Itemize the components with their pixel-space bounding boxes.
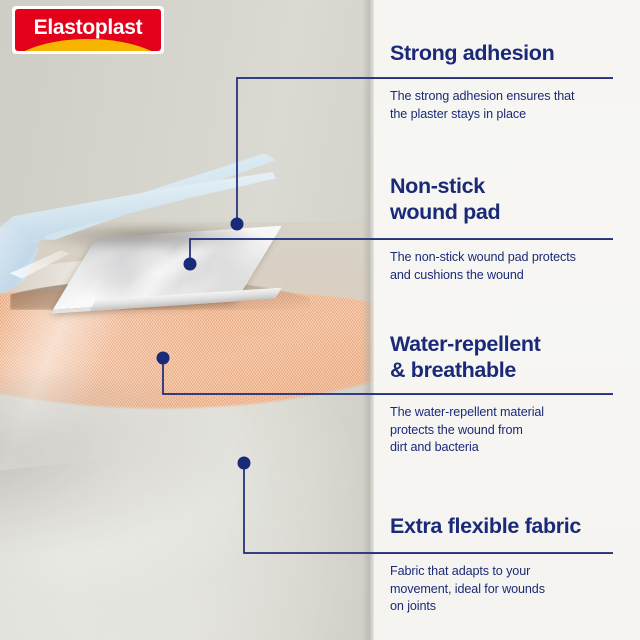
feature-body-strong-adhesion: The strong adhesion ensures that the pla… bbox=[390, 88, 622, 123]
feature-title-extra-flexible-fabric: Extra flexible fabric bbox=[390, 513, 622, 539]
feature-divider-3 bbox=[370, 394, 613, 395]
logo-wordmark: Elastoplast bbox=[15, 16, 161, 40]
feature-heading: Non-stick wound pad bbox=[390, 173, 622, 225]
feature-title-strong-adhesion: Strong adhesion bbox=[390, 40, 622, 66]
feature-divider-2 bbox=[370, 239, 613, 240]
logo-red-field: Elastoplast bbox=[15, 9, 161, 51]
fabric-shadow bbox=[0, 378, 260, 568]
logo-yellow-swoosh bbox=[15, 39, 161, 51]
feature-body-water-repellent-breathable: The water-repellent material protects th… bbox=[390, 404, 622, 457]
product-illustration bbox=[0, 0, 400, 640]
feature-description: Fabric that adapts to your movement, ide… bbox=[390, 563, 622, 616]
backing-film-body bbox=[0, 172, 276, 254]
feature-divider-1 bbox=[370, 78, 613, 79]
feature-heading: Water-repellent & breathable bbox=[390, 331, 622, 383]
feature-heading: Extra flexible fabric bbox=[390, 513, 622, 539]
feature-description: The strong adhesion ensures that the pla… bbox=[390, 88, 622, 123]
feature-body-extra-flexible-fabric: Fabric that adapts to your movement, ide… bbox=[390, 563, 622, 616]
feature-description: The non-stick wound pad protects and cus… bbox=[390, 249, 622, 284]
peel-off-backing-film bbox=[0, 148, 276, 254]
feature-heading: Strong adhesion bbox=[390, 40, 622, 66]
feature-description: The water-repellent material protects th… bbox=[390, 404, 622, 457]
feature-title-non-stick-wound-pad: Non-stick wound pad bbox=[390, 173, 622, 225]
feature-divider-4 bbox=[370, 553, 613, 554]
feature-body-non-stick-wound-pad: The non-stick wound pad protects and cus… bbox=[390, 249, 622, 284]
infographic-canvas: Elastoplast Strong adhesion The strong a… bbox=[0, 0, 640, 640]
feature-title-water-repellent-breathable: Water-repellent & breathable bbox=[390, 331, 622, 383]
brand-logo: Elastoplast bbox=[12, 6, 164, 54]
